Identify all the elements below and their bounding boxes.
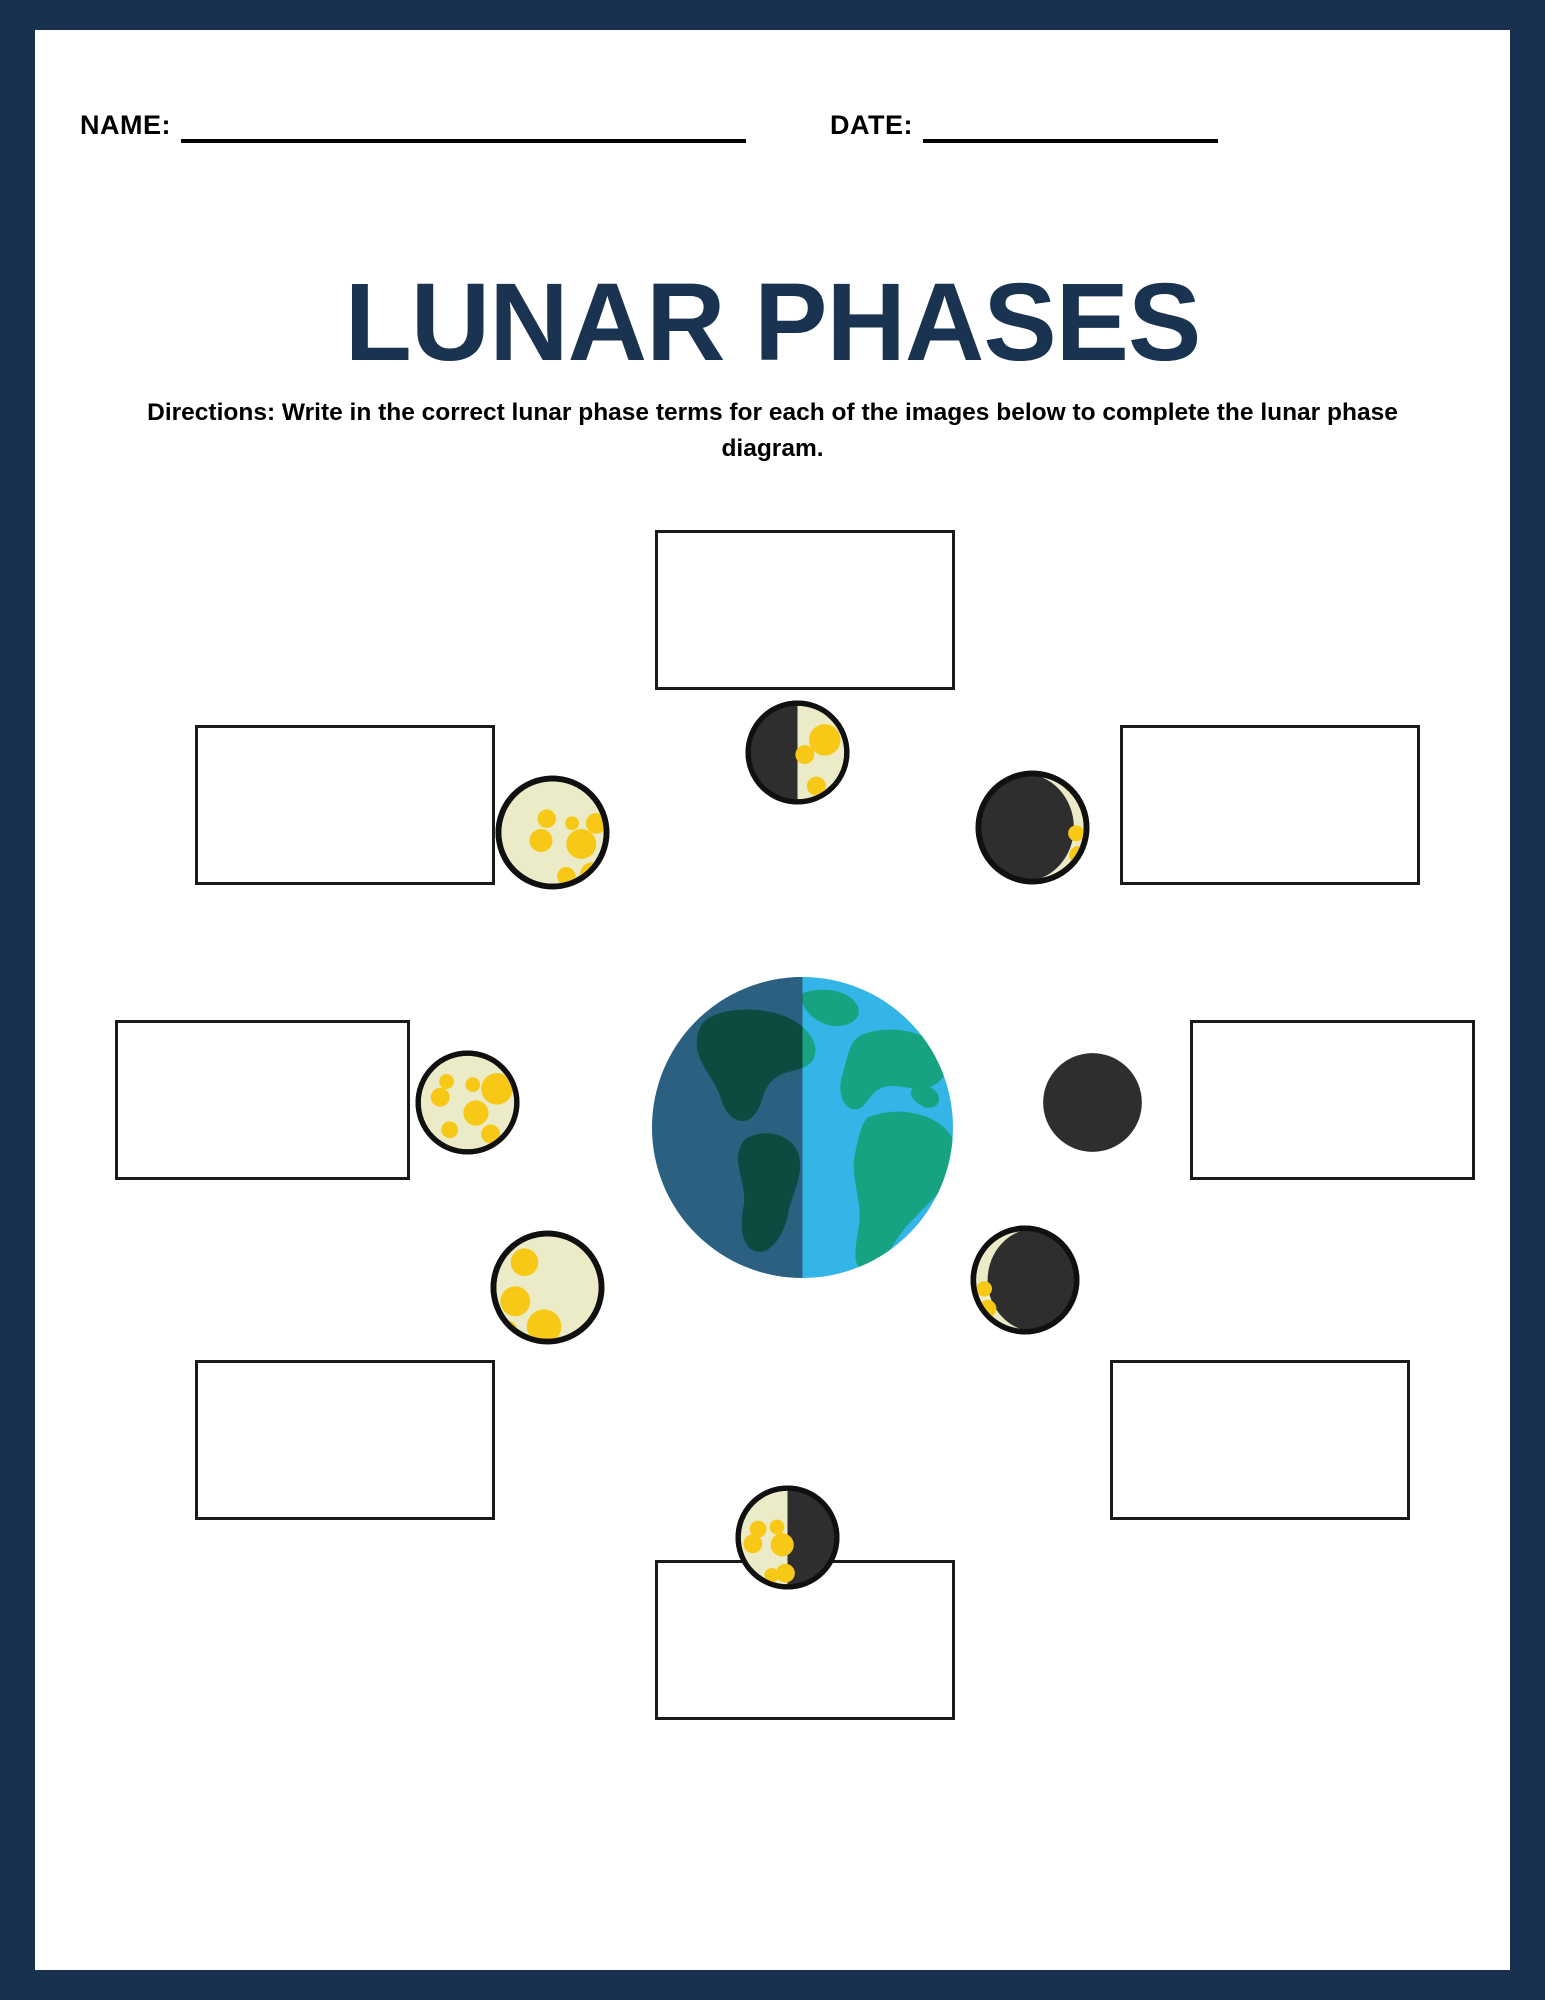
lunar-phase-diagram bbox=[35, 485, 1510, 1525]
answer-box-top[interactable] bbox=[655, 530, 955, 690]
answer-box-right[interactable] bbox=[1190, 1020, 1475, 1180]
moon-waxing-crescent-icon bbox=[970, 1225, 1080, 1335]
moon-waning-gibbous-icon bbox=[490, 1230, 605, 1345]
moon-last-quarter-icon bbox=[735, 1485, 840, 1590]
directions-text: Directions: Write in the correct lunar p… bbox=[135, 395, 1410, 466]
date-write-line[interactable] bbox=[923, 105, 1218, 143]
moon-waxing-gibbous-icon bbox=[495, 775, 610, 890]
date-label: DATE: bbox=[830, 112, 913, 143]
moon-waning-crescent-icon bbox=[975, 770, 1090, 885]
earth-illustration bbox=[650, 975, 955, 1280]
answer-box-upper-right[interactable] bbox=[1120, 725, 1420, 885]
answer-box-lower-left[interactable] bbox=[195, 1360, 495, 1520]
answer-box-lower-right[interactable] bbox=[1110, 1360, 1410, 1520]
worksheet-page: NAME: DATE: LUNAR PHASES Directions: Wri… bbox=[35, 30, 1510, 1970]
page-title: LUNAR PHASES bbox=[35, 268, 1510, 378]
moon-first-quarter-icon bbox=[745, 700, 850, 805]
answer-box-upper-left[interactable] bbox=[195, 725, 495, 885]
header: NAME: DATE: bbox=[80, 105, 1465, 185]
answer-box-left[interactable] bbox=[115, 1020, 410, 1180]
moon-new-icon bbox=[1040, 1050, 1145, 1155]
name-write-line[interactable] bbox=[181, 105, 746, 143]
moon-full-icon bbox=[415, 1050, 520, 1155]
name-label: NAME: bbox=[80, 112, 171, 143]
name-field[interactable]: NAME: bbox=[80, 105, 746, 143]
date-field[interactable]: DATE: bbox=[830, 105, 1218, 143]
